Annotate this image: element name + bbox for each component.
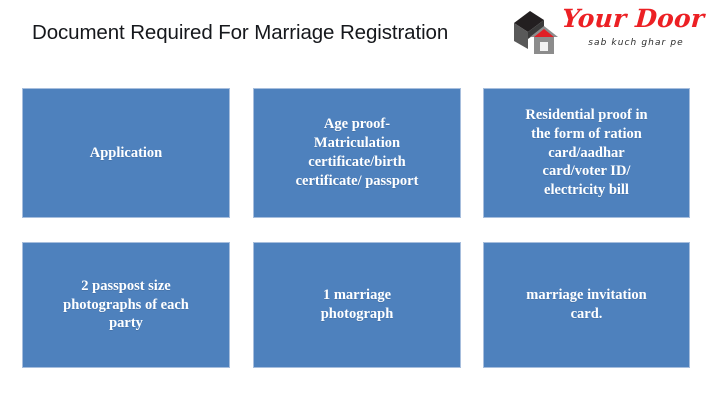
logo-brand-name: Your Door Step [561, 4, 711, 33]
document-card: 1 marriage photograph [253, 242, 461, 368]
document-card-label: Application [90, 144, 163, 163]
slide-canvas: Document Required For Marriage Registrat… [0, 0, 713, 403]
document-card-label: Age proof- Matriculation certificate/bir… [296, 115, 419, 190]
document-card: Residential proof in the form of ration … [483, 88, 690, 218]
document-card-label: Residential proof in the form of ration … [525, 106, 647, 200]
page-title: Document Required For Marriage Registrat… [32, 21, 448, 45]
logo-tagline: sab kuch ghar pe [562, 38, 710, 48]
document-card-label: marriage invitation card. [526, 286, 646, 324]
document-card: Application [22, 88, 230, 218]
house-icon [510, 7, 564, 59]
document-card-label: 1 marriage photograph [321, 286, 394, 324]
document-card: Age proof- Matriculation certificate/bir… [253, 88, 461, 218]
header: Document Required For Marriage Registrat… [0, 0, 713, 78]
logo-text: Your Door Step sab kuch ghar pe [562, 3, 710, 63]
brand-logo: Your Door Step sab kuch ghar pe [510, 3, 710, 65]
document-card-label: 2 passpost size photographs of each part… [63, 277, 189, 334]
document-card: marriage invitation card. [483, 242, 690, 368]
document-card: 2 passpost size photographs of each part… [22, 242, 230, 368]
